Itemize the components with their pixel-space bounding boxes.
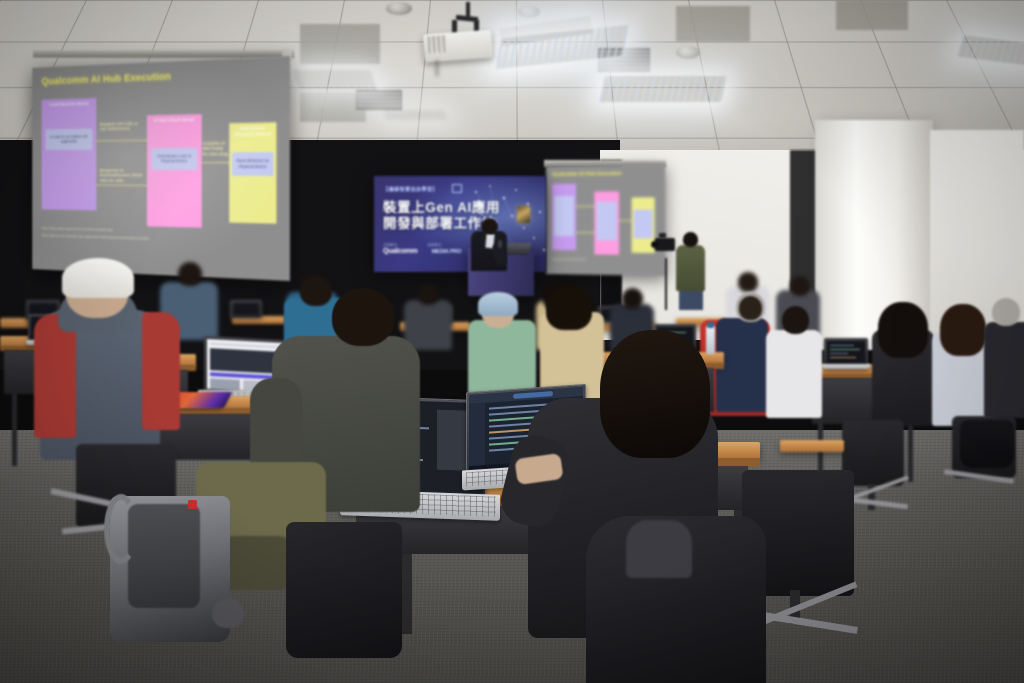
- slide-mirror-inner: [554, 196, 574, 236]
- device-icon: [452, 184, 462, 193]
- slide-mirror-title: Qualcomm AI Hub Execution: [552, 170, 659, 178]
- audience-person-head: [178, 262, 202, 286]
- audience-person-head: [738, 272, 758, 292]
- slide-stage-header: Real Device (Physical Device): [229, 122, 276, 139]
- slide-arrow-label-request: Requests API Calls or Job Submissions: [100, 121, 146, 132]
- camera-operator-legs: [679, 288, 703, 310]
- desk-leg: [908, 420, 913, 482]
- desk-caster-wheel: [212, 598, 244, 628]
- backpack-logo: [188, 500, 197, 509]
- slide-title: Qualcomm AI Hub Execution: [42, 66, 279, 87]
- ceiling-speaker-icon: [676, 46, 700, 59]
- tripod: [665, 258, 667, 310]
- slide-mirror-url: Qualcomm AI Hub Execution: [552, 258, 655, 263]
- camera-operator-body: [676, 245, 705, 291]
- banner-bracket-line: 【邊緣智慧自由學習】: [383, 186, 438, 193]
- camera-lens-icon: [651, 241, 658, 248]
- sponsor-caption-1: 主辦單位: [383, 242, 397, 247]
- microphone-icon: [498, 240, 502, 248]
- slide-stage-real-device: Real Device (Physical Device) Runs Infer…: [229, 122, 276, 223]
- slide-stage-header: Local Machine (Host): [42, 98, 97, 109]
- backpack-strap: [104, 494, 138, 564]
- slide-stage-body: Runs Inference on Physical Device: [232, 153, 274, 176]
- audience-person-hair: [546, 286, 592, 330]
- chip-graphic: [517, 206, 530, 223]
- desk-leg: [12, 390, 17, 466]
- audience-person-white-shirt: [766, 330, 822, 418]
- slide-arrow-label-response: Responses to download/access Check Jobs …: [100, 168, 146, 183]
- ceiling-tile-dark: [836, 0, 908, 30]
- audience-person-head: [622, 288, 643, 309]
- sponsor-caption-2: 協辦單位: [427, 242, 441, 247]
- audience-person-hair: [600, 330, 710, 458]
- ceiling-light: [293, 70, 377, 90]
- slide-stage-body: AI Hub CLI or Python API Application: [46, 128, 93, 150]
- audience-person-head: [300, 276, 332, 306]
- slide-qualcomm-ai-hub-execution: Qualcomm AI Hub Execution Local Machine …: [32, 56, 290, 281]
- laptop-screen: [233, 303, 259, 315]
- slide-mirror-inner: [596, 202, 617, 241]
- slide-arrow-dispatch: [202, 162, 229, 163]
- sponsor-logo-partner: MEDIA PRO: [432, 249, 462, 255]
- desk: [780, 440, 844, 452]
- laptop[interactable]: [230, 300, 262, 318]
- audience-person: [404, 300, 452, 350]
- slide-arrow-response: [96, 185, 147, 186]
- ceiling-tile-dark: [300, 24, 380, 64]
- slide-mirror-arrow: [619, 220, 631, 221]
- baseball-cap: [62, 258, 134, 298]
- slide-mirror: Qualcomm AI Hub Execution Qualcomm AI Hu…: [546, 164, 665, 276]
- sponsor-logo-qualcomm: Qualcomm: [383, 248, 418, 255]
- backpack-front-pocket: [128, 504, 200, 608]
- secondary-projection-screen: Qualcomm AI Hub Execution Qualcomm AI Hu…: [546, 164, 665, 276]
- water-bottle: [706, 326, 715, 354]
- audience-person-sleeve: [142, 312, 180, 430]
- handbag: [960, 420, 1014, 468]
- audience-person-head: [418, 284, 439, 305]
- video-camera: [655, 238, 675, 251]
- audience-person-head: [332, 288, 394, 346]
- audience-person-head: [992, 298, 1020, 326]
- laptop-screen: [827, 341, 865, 363]
- main-projection-screen: Qualcomm AI Hub Execution Local Machine …: [32, 56, 290, 281]
- audience-person-head: [782, 306, 809, 334]
- slide-arrow-request: [96, 140, 147, 142]
- slide-mirror-inner: [634, 210, 653, 239]
- audience-person-dark: [984, 322, 1024, 418]
- projector-vent: [427, 35, 446, 53]
- slide-stage-body: Orchestrates User to Physical Device: [151, 148, 197, 170]
- banner-headline-line2: 開發與部署工作坊: [383, 212, 496, 232]
- ceiling-light: [599, 76, 727, 102]
- water-bottle-cap: [707, 322, 714, 328]
- audience-person-sleeve: [34, 314, 76, 438]
- slide-stage-cloud-server: AI Hub Cloud Server Orchestrates User to…: [147, 114, 202, 228]
- slide-mirror-arrow: [576, 206, 594, 207]
- audience-person-hair: [940, 304, 986, 356]
- backpack-black: [286, 522, 402, 658]
- classroom-scene: Qualcomm AI Hub Execution Local Machine …: [0, 0, 1024, 683]
- ceiling-speaker-icon: [518, 6, 540, 18]
- backpack-pocket: [626, 520, 692, 578]
- video-camera-handle: [659, 233, 666, 238]
- air-vent: [356, 90, 402, 110]
- projector-cable: [436, 60, 438, 76]
- slide-stage-header: AI Hub Cloud Server: [147, 114, 202, 125]
- laptop-keyboard[interactable]: [822, 364, 870, 369]
- slide-stage-local-machine: Local Machine (Host) AI Hub CLI or Pytho…: [42, 98, 97, 210]
- audience-person-hair: [739, 296, 762, 320]
- baseball-cap: [478, 292, 518, 316]
- ceiling-light: [383, 110, 447, 120]
- laptop[interactable]: [824, 338, 868, 366]
- ceiling-speaker-icon: [386, 2, 412, 15]
- slide-mirror-arrow: [576, 232, 594, 233]
- camera-operator-head: [683, 232, 698, 247]
- slide-arrow-label-dispatch: Compiles to Wait Dump for executing: [203, 141, 229, 157]
- audience-person-hair: [878, 302, 928, 358]
- audience-person-head: [790, 276, 810, 296]
- presenter-head: [481, 218, 498, 234]
- ceiling-tile-dark: [676, 6, 750, 42]
